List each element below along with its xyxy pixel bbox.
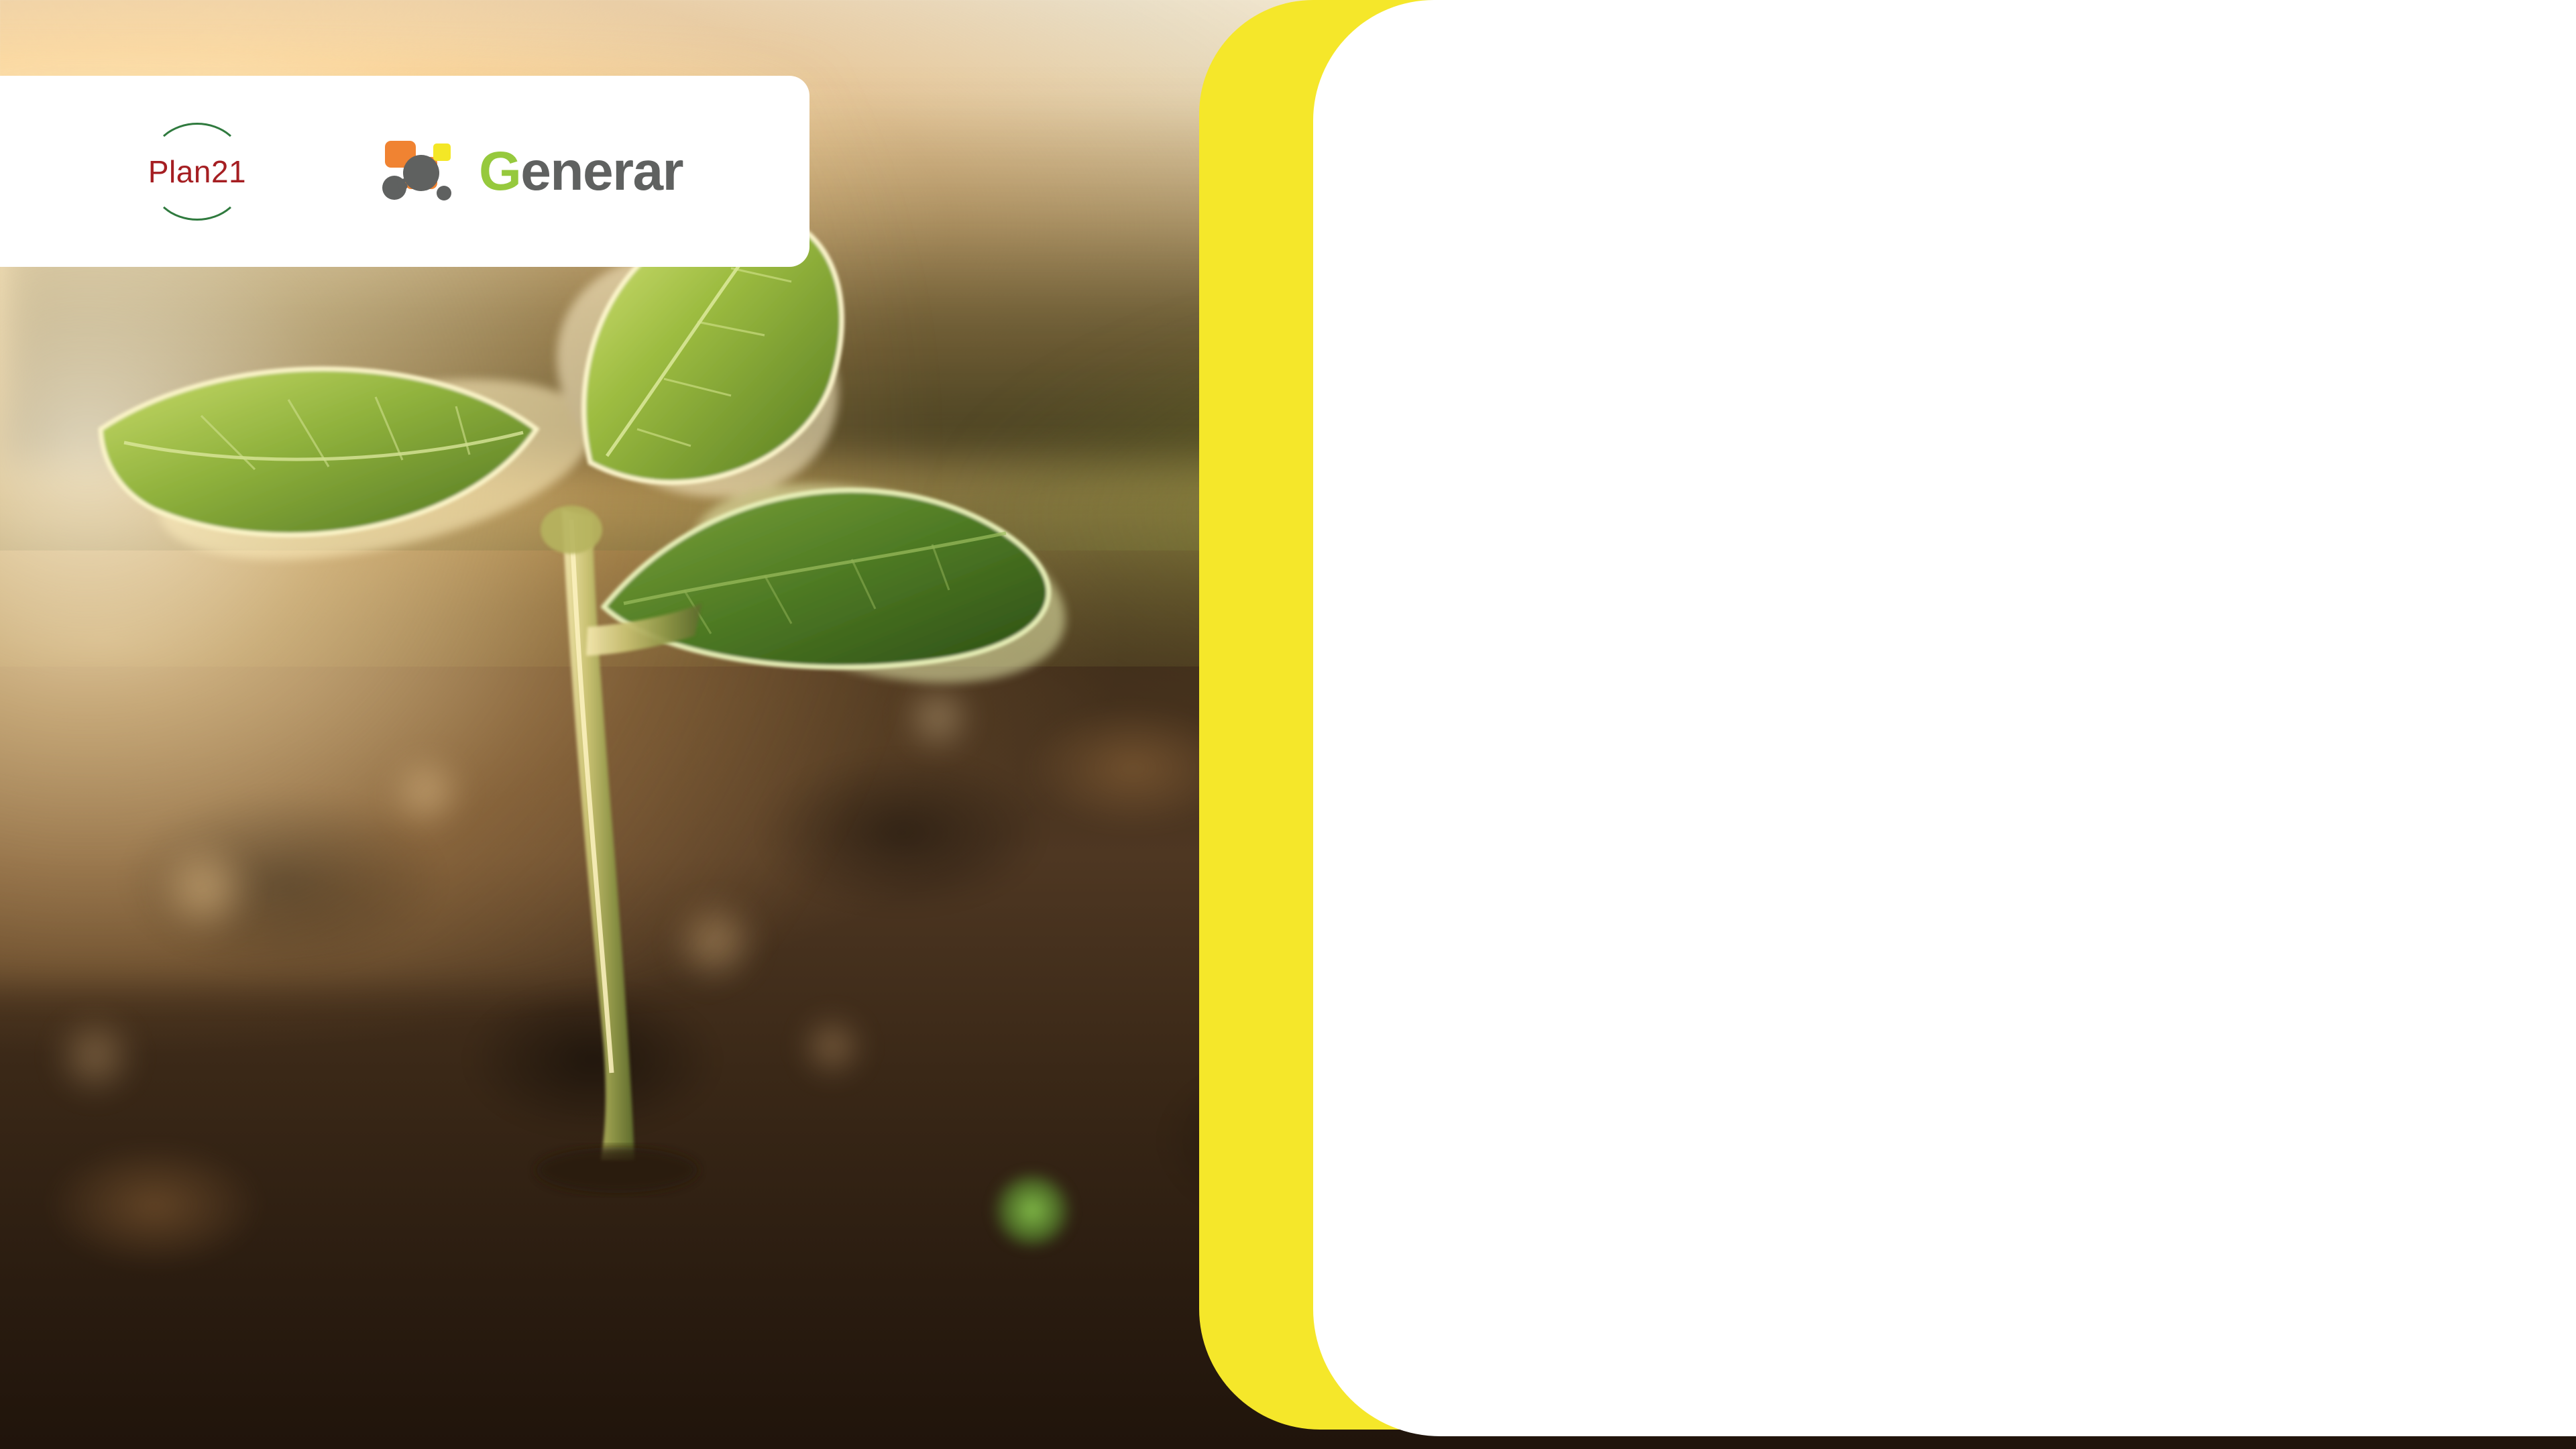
generar-rest: enerar: [520, 141, 683, 202]
generar-initial: G: [479, 141, 520, 202]
generar-logo: Generar: [382, 137, 683, 207]
generar-wordmark: Generar: [479, 144, 683, 199]
content-card: Servicios para Empresas Agrícolas Metodo…: [1313, 0, 2576, 1436]
plan21-logo: Plan21: [146, 121, 248, 222]
plan21-wordmark: Plan21: [148, 154, 246, 190]
logo-badge: Plan21 Generar: [0, 76, 809, 267]
generar-blocks-icon: [382, 137, 461, 207]
slide-root: Servicios para Empresas Agrícolas Metodo…: [0, 0, 2576, 1449]
